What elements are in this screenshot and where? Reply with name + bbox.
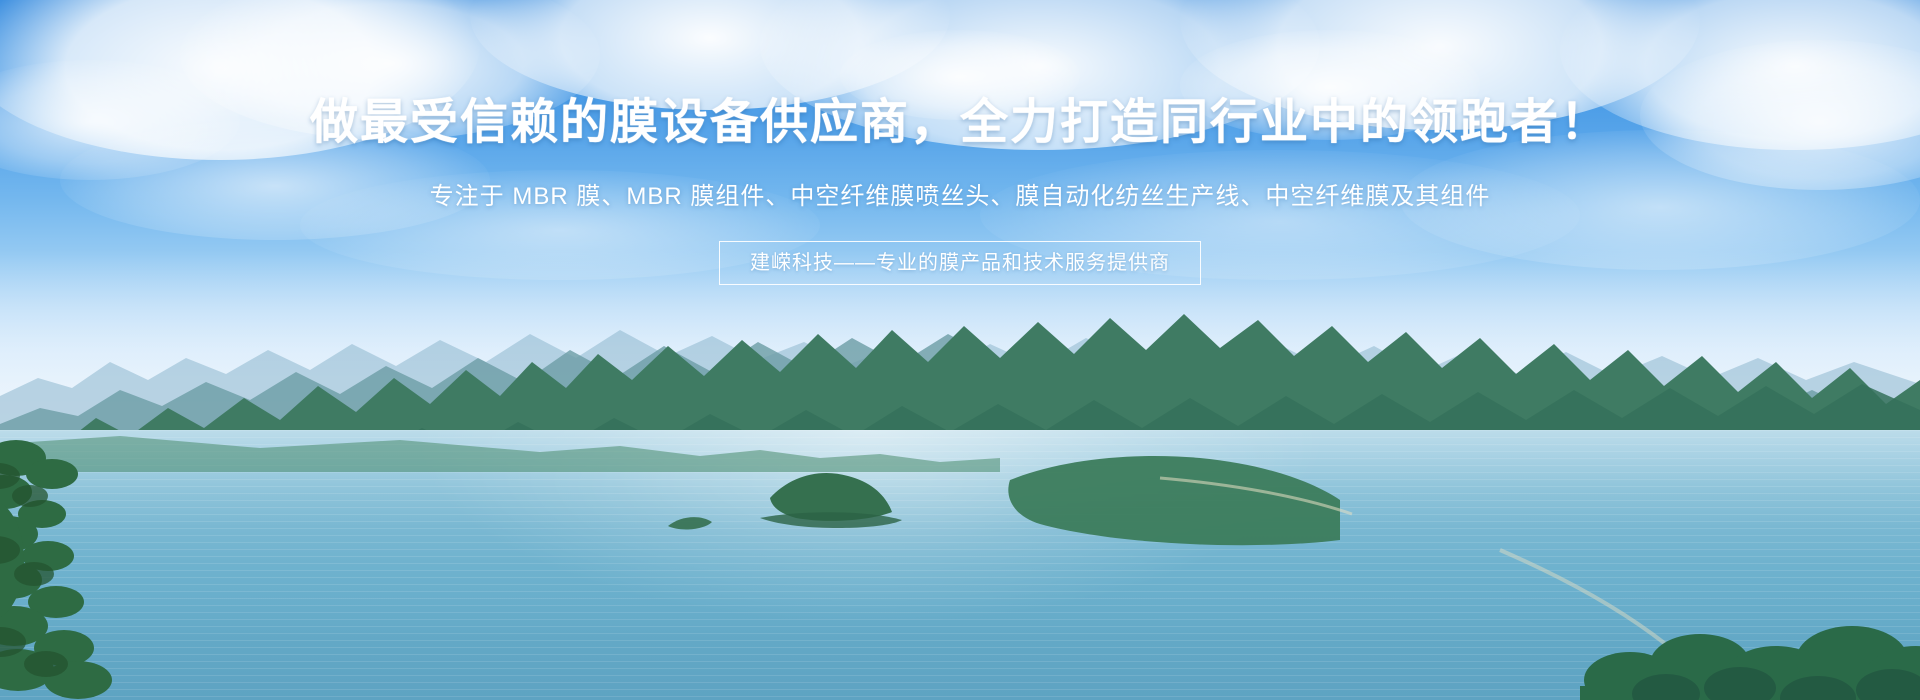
banner-subtitle: 专注于 MBR 膜、MBR 膜组件、中空纤维膜喷丝头、膜自动化纺丝生产线、中空纤… [0, 185, 1920, 209]
banner-tagline-box: 建嵘科技——专业的膜产品和技术服务提供商 [719, 241, 1201, 285]
hero-banner: 做最受信赖的膜设备供应商，全力打造同行业中的领跑者！ 专注于 MBR 膜、MBR… [0, 0, 1920, 700]
banner-tagline-wrap: 建嵘科技——专业的膜产品和技术服务提供商 [0, 241, 1920, 285]
banner-copy: 做最受信赖的膜设备供应商，全力打造同行业中的领跑者！ 专注于 MBR 膜、MBR… [0, 0, 1920, 700]
banner-headline: 做最受信赖的膜设备供应商，全力打造同行业中的领跑者！ [0, 99, 1920, 147]
